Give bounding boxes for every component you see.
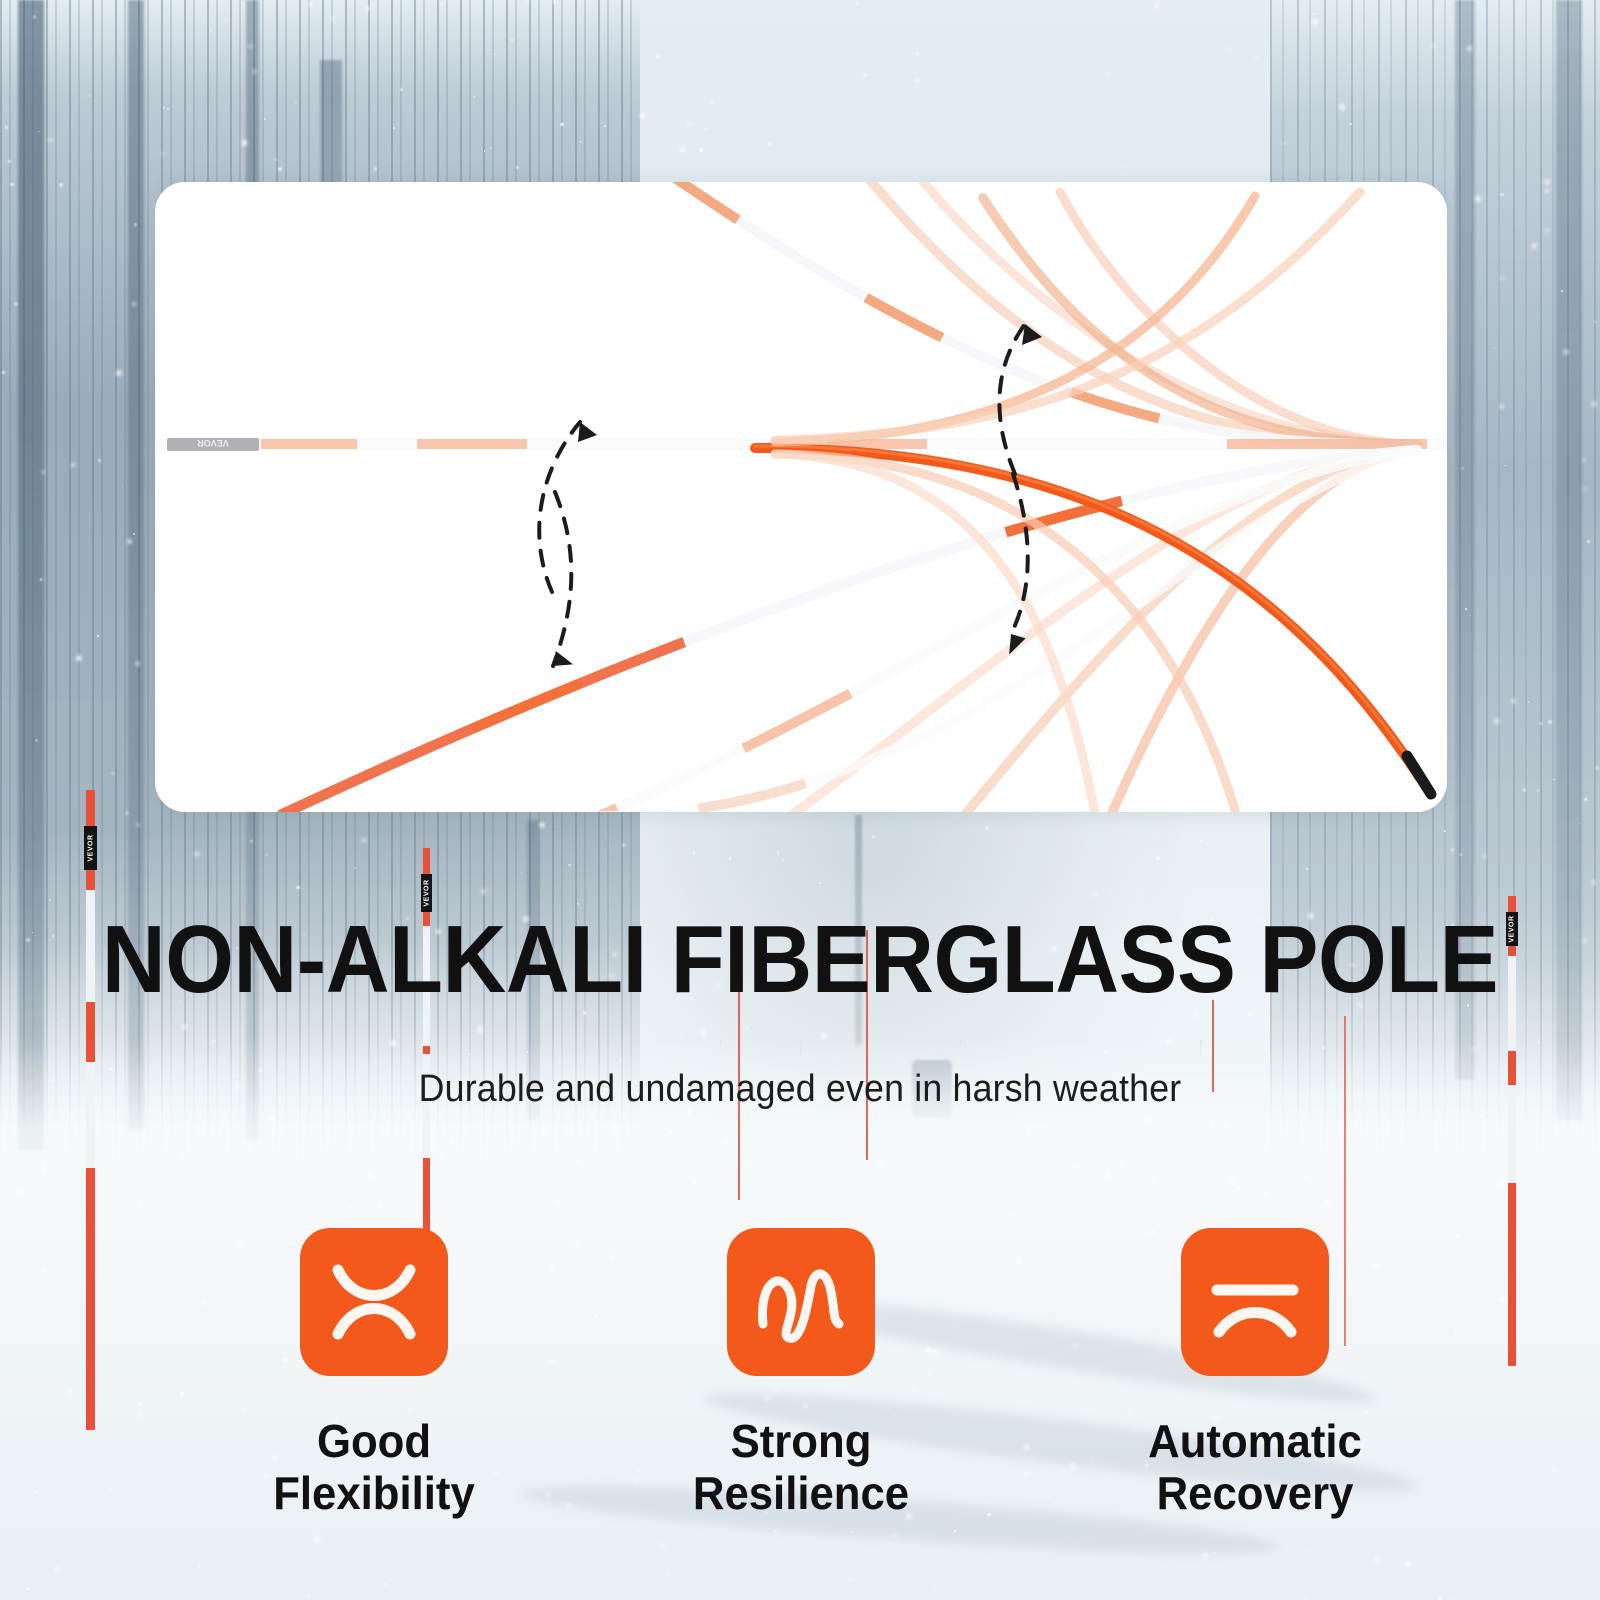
- feature-label: Automatic Recovery: [1113, 1416, 1398, 1519]
- feature-label: Strong Resilience: [659, 1416, 944, 1519]
- feature-icon-tile: [300, 1228, 448, 1376]
- pole-sticker-label: VEVOR: [87, 834, 94, 861]
- feature-label-line1: Strong: [659, 1416, 944, 1468]
- feature-label-line2: Flexibility: [232, 1468, 517, 1520]
- page-subheadline: Durable and undamaged even in harsh weat…: [48, 1068, 1552, 1111]
- flex-arrow-down: [550, 492, 575, 673]
- feature-good-flexibility: Good Flexibility: [224, 1228, 524, 1519]
- feature-label-line2: Resilience: [659, 1468, 944, 1520]
- tree-trunk: [1556, 0, 1582, 1120]
- feature-list: Good Flexibility Strong Resilience: [0, 1228, 1600, 1558]
- feature-label-line1: Good: [232, 1416, 517, 1468]
- pole-sticker-label: VEVOR: [423, 879, 430, 906]
- spring-coil-icon: [749, 1250, 853, 1354]
- bent-down-ghost-right-1: [775, 454, 1235, 810]
- pole-segment-orange: [423, 1046, 430, 1054]
- feature-icon-tile: [1181, 1228, 1329, 1376]
- feature-automatic-recovery: Automatic Recovery: [1105, 1228, 1405, 1519]
- feature-label-line2: Recovery: [1113, 1468, 1398, 1520]
- flex-bowtie-icon: [322, 1250, 426, 1354]
- feature-label: Good Flexibility: [232, 1416, 517, 1519]
- page-headline: NON-ALKALI FIBERGLASS POLE: [64, 912, 1536, 1008]
- svg-text:VEVOR: VEVOR: [197, 438, 229, 448]
- product-marketing-image: VEVOR VEVOR VEVOR: [0, 0, 1600, 1600]
- feature-icon-tile: [727, 1228, 875, 1376]
- bent-down-pole-tip: [1407, 756, 1431, 794]
- feature-label-line1: Automatic: [1113, 1416, 1398, 1468]
- card-clip: VEVOR VEVOR: [155, 182, 1447, 812]
- straight-and-arc-icon: [1203, 1250, 1307, 1354]
- pole-flex-diagram: VEVOR VEVOR: [155, 182, 1447, 812]
- pole-segment-orange: [86, 1002, 95, 1062]
- bent-up-pole-2: [983, 198, 1417, 444]
- pole-sticker-vevor: VEVOR: [84, 826, 97, 870]
- product-illustration-card: VEVOR VEVOR: [155, 182, 1447, 812]
- feature-strong-resilience: Strong Resilience: [651, 1228, 951, 1519]
- tree-trunk: [18, 0, 44, 1150]
